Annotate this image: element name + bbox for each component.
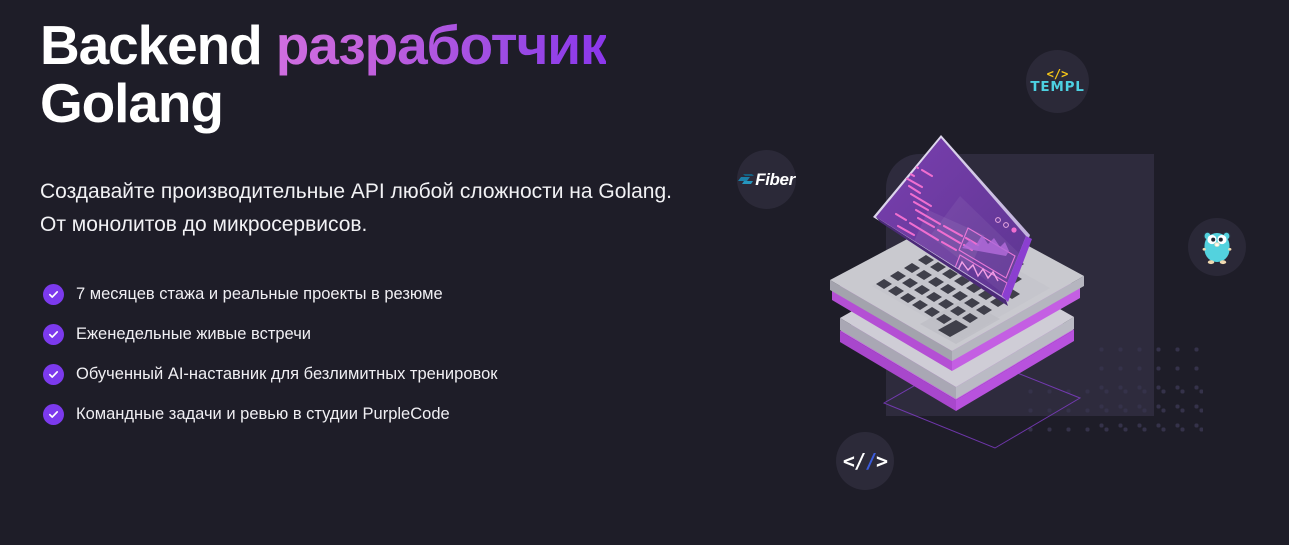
list-item: Обученный AI-наставник для безлимитных т… (43, 354, 497, 394)
code-slash: / (865, 449, 876, 473)
code-right-bracket: > (876, 449, 887, 473)
list-item-label: Обученный AI-наставник для безлимитных т… (76, 366, 497, 383)
check-circle-icon (43, 324, 64, 345)
list-item: Командные задачи и ревью в студии Purple… (43, 394, 497, 434)
headline-line-2: Golang (40, 74, 740, 132)
fiber-label: Fiber (755, 171, 795, 188)
list-item-label: Еженедельные живые встречи (76, 326, 311, 343)
headline-part-1: Backend (40, 14, 276, 76)
list-item: 7 месяцев стажа и реальные проекты в рез… (43, 274, 497, 314)
check-circle-icon (43, 284, 64, 305)
code-brackets-icon: <//> (843, 451, 887, 471)
feature-list: 7 месяцев стажа и реальные проекты в рез… (43, 274, 497, 434)
hero-copy: Backend разработчик Golang Создавайте пр… (40, 16, 740, 133)
templ-badge[interactable]: </> TEMPL (1026, 50, 1089, 113)
headline-accent: разработчик (276, 14, 607, 76)
fiber-swoosh-icon (738, 174, 754, 186)
check-circle-icon (43, 404, 64, 425)
gopher-badge[interactable] (1188, 218, 1246, 276)
hero-section: </> TEMPL Fiber <//> (0, 0, 1289, 545)
list-item: Еженедельные живые встречи (43, 314, 497, 354)
code-brackets-badge[interactable]: <//> (836, 432, 894, 490)
isometric-laptop-illustration (810, 118, 1140, 448)
list-item-label: 7 месяцев стажа и реальные проекты в рез… (76, 286, 443, 303)
list-item-label: Командные задачи и ревью в студии Purple… (76, 406, 450, 423)
templ-label: TEMPL (1030, 81, 1084, 95)
check-circle-icon (43, 364, 64, 385)
go-gopher-icon (1200, 227, 1234, 267)
hero-subtitle: Создавайте производительные API любой сл… (40, 176, 700, 241)
fiber-badge[interactable]: Fiber (737, 150, 796, 209)
page-title: Backend разработчик Golang (40, 16, 740, 133)
code-left-bracket: </ (843, 449, 865, 473)
